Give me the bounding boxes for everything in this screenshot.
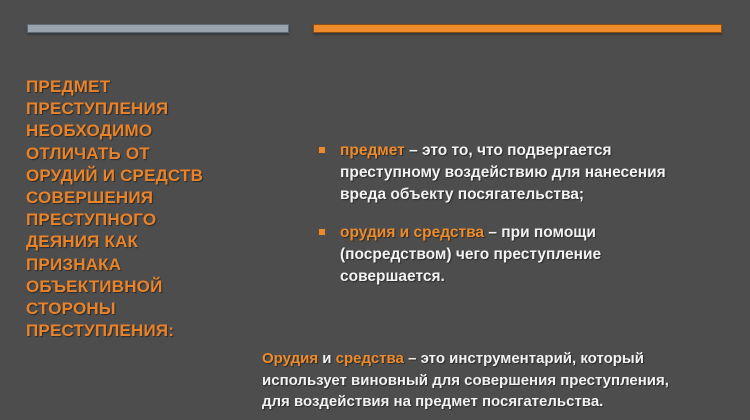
footnote-conjunction: и xyxy=(318,350,336,367)
orange-accent-bar xyxy=(313,24,722,33)
heading-line: ОРУДИЙ И СРЕДСТВ xyxy=(26,165,294,187)
gray-accent-bar xyxy=(27,24,289,33)
heading-line: ОТЛИЧАТЬ ОТ xyxy=(26,143,294,165)
square-bullet-icon xyxy=(319,229,325,235)
heading-line: ПРЕСТУПЛЕНИЯ xyxy=(26,98,294,120)
footnote-term-1: Орудия xyxy=(262,350,318,367)
square-bullet-icon xyxy=(319,147,325,153)
footnote-paragraph: Орудия и средства – это инструментарий, … xyxy=(262,348,694,413)
list-item: орудия и средства – при помощи (посредст… xyxy=(318,222,690,288)
heading-line: ПРЕСТУПЛЕНИЯ: xyxy=(26,320,294,342)
bullet-list: предмет – это то, что подвергается прест… xyxy=(318,140,690,288)
bullet-term: предмет xyxy=(340,142,405,159)
heading-line: ПРЕДМЕТ xyxy=(26,76,294,98)
page-title: ПРЕДМЕТ ПРЕСТУПЛЕНИЯ НЕОБХОДИМО ОТЛИЧАТЬ… xyxy=(26,76,294,342)
bullet-term: орудия и средства xyxy=(340,224,484,241)
footnote-term-2: средства xyxy=(336,350,404,367)
heading-line: ПРИЗНАКА xyxy=(26,254,294,276)
list-item: предмет – это то, что подвергается прест… xyxy=(318,140,690,206)
heading-line: СОВЕРШЕНИЯ xyxy=(26,187,294,209)
heading-line: ПРЕСТУПНОГО xyxy=(26,209,294,231)
heading-line: СТОРОНЫ xyxy=(26,298,294,320)
slide-canvas: ПРЕДМЕТ ПРЕСТУПЛЕНИЯ НЕОБХОДИМО ОТЛИЧАТЬ… xyxy=(0,0,750,420)
heading-line: ДЕЯНИЯ КАК xyxy=(26,231,294,253)
heading-line: ОБЪЕКТИВНОЙ xyxy=(26,276,294,298)
heading-line: НЕОБХОДИМО xyxy=(26,120,294,142)
